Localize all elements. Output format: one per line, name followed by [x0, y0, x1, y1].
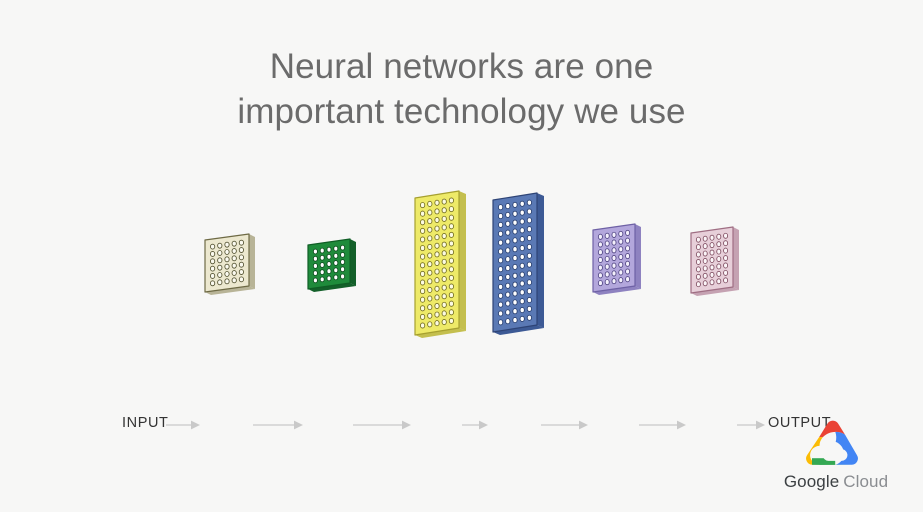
logo-word-cloud: Cloud [843, 472, 888, 491]
slide-canvas: Neural networks are one important techno… [0, 0, 923, 512]
neural-network-diagram: INPUT OUTPUT [0, 168, 923, 358]
network-layer-pink [689, 227, 745, 297]
conn-3-to-4 [462, 420, 488, 430]
google-cloud-wordmark: GoogleCloud [772, 472, 900, 492]
conn-2-to-3 [353, 420, 411, 430]
network-layer-yellow [413, 191, 472, 338]
network-layer-green [306, 239, 362, 293]
google-cloud-logo: GoogleCloud [772, 420, 900, 498]
slide-title: Neural networks are one important techno… [0, 44, 923, 134]
network-layer-beige [203, 234, 261, 296]
network-layer-purple [591, 224, 647, 296]
input-label: INPUT [122, 415, 169, 431]
google-cloud-mark-icon [802, 420, 862, 468]
conn-4-to-5 [541, 420, 588, 430]
conn-5-to-6 [639, 420, 686, 430]
logo-word-google: Google [784, 472, 839, 491]
conn-6-to-output [737, 420, 765, 430]
network-layer-blue [491, 193, 550, 335]
conn-1-to-2 [253, 420, 303, 430]
conn-input-to-1 [166, 420, 200, 430]
